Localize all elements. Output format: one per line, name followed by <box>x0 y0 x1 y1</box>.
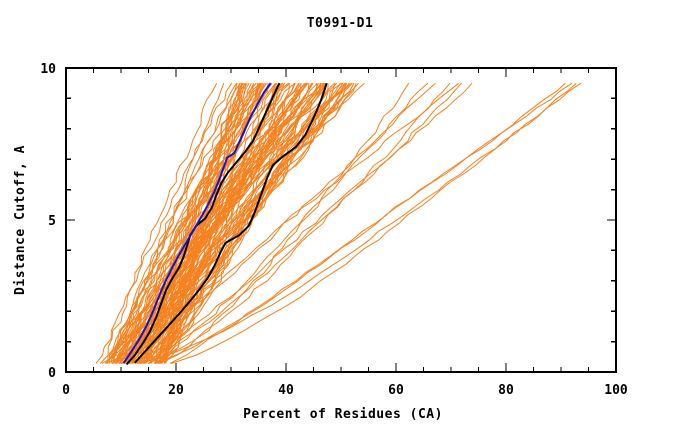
chart-root: T0991-D1 0204060801000510Percent of Resi… <box>0 0 680 440</box>
plot-svg: 0204060801000510Percent of Residues (CA)… <box>0 0 680 440</box>
y-tick-label: 0 <box>48 366 56 381</box>
y-tick-label: 10 <box>40 62 56 77</box>
y-tick-label: 5 <box>48 214 56 229</box>
y-axis-title: Distance Cutoff, A <box>13 145 28 295</box>
x-axis-title: Percent of Residues (CA) <box>243 407 443 422</box>
x-tick-label: 60 <box>388 383 404 398</box>
x-tick-label: 40 <box>278 383 294 398</box>
x-tick-label: 0 <box>62 383 70 398</box>
x-tick-label: 100 <box>604 383 628 398</box>
x-tick-label: 20 <box>168 383 184 398</box>
plot-area: 0204060801000510Percent of Residues (CA)… <box>0 0 680 440</box>
model-curve <box>154 83 356 363</box>
background-curve-group <box>96 83 581 363</box>
x-tick-label: 80 <box>498 383 514 398</box>
